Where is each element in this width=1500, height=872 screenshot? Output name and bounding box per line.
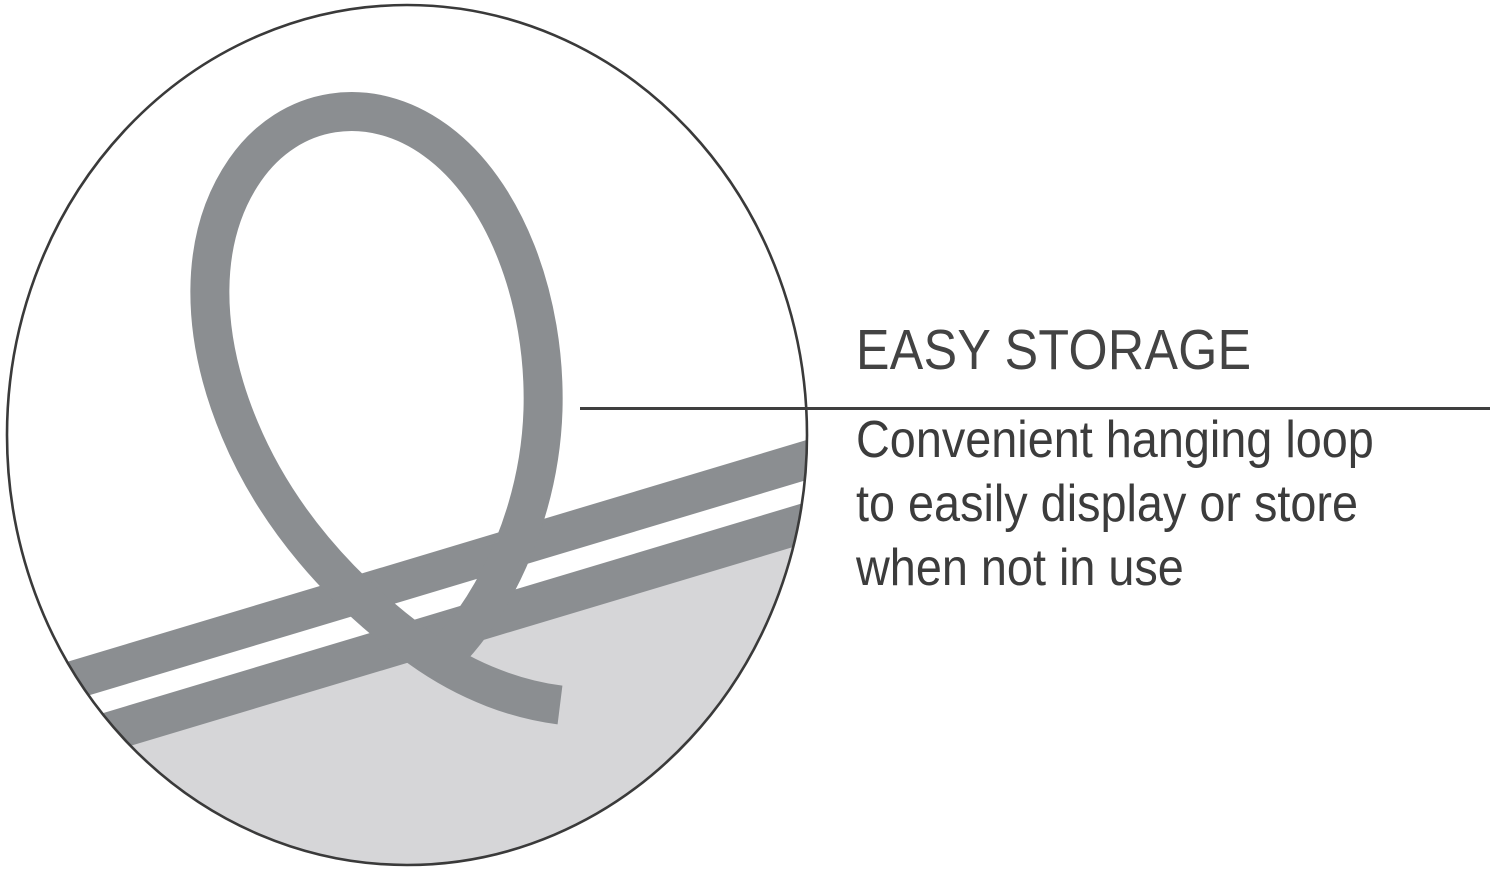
feature-callout-graphic: EASY STORAGE Convenient hanging loop to … [0,0,1500,872]
hanging-loop-illustration [0,0,840,872]
description-line-1: Convenient hanging loop [856,408,1432,472]
callout-description: Convenient hanging loop to easily displa… [856,408,1432,600]
description-line-2: to easily display or store [856,472,1432,536]
callout-text-block: EASY STORAGE Convenient hanging loop to … [856,318,1496,600]
description-line-3: when not in use [856,536,1432,600]
page-title: EASY STORAGE [856,318,1419,382]
